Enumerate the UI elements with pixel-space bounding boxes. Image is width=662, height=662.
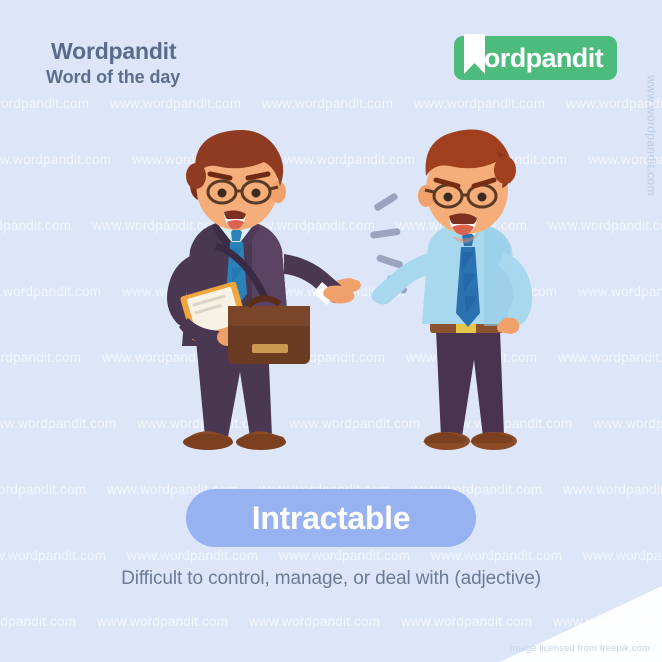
brand-block: Wordpandit Word of the day <box>51 39 180 88</box>
image-credit: Image licensed from freepik.com <box>510 643 650 654</box>
right-legs <box>436 330 504 437</box>
word-of-the-day-card: www.wordpandit.comwww.wordpandit.comwww.… <box>0 0 662 662</box>
word-label: Intractable <box>252 500 411 537</box>
definition-text: Difficult to control, manage, or deal wi… <box>0 568 662 590</box>
page-title: Wordpandit <box>51 39 180 64</box>
calm-businessman-figure <box>167 130 354 450</box>
logo-label: ordpandit <box>484 45 603 72</box>
wordpandit-logo[interactable]: ordpandit <box>454 36 617 80</box>
word-pill: Intractable <box>186 489 476 547</box>
illustration-two-businessmen <box>0 0 662 662</box>
bookmark-icon <box>464 34 485 74</box>
page-subtitle: Word of the day <box>46 67 180 88</box>
